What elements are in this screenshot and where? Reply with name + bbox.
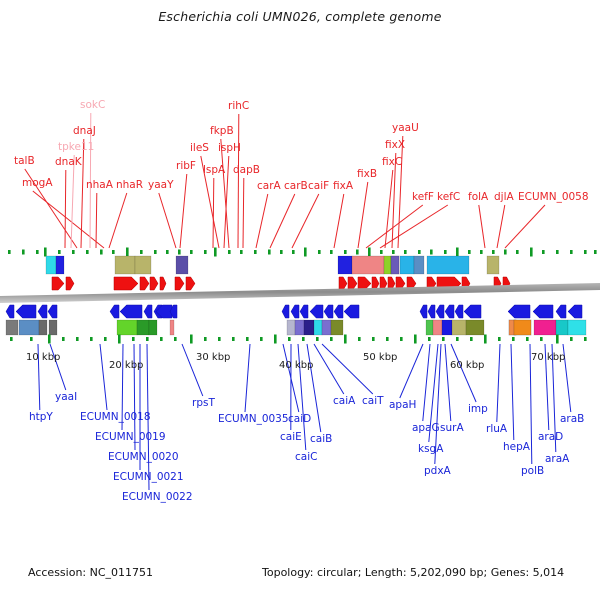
bottom-gene-label[interactable]: rpsT [192,398,215,409]
rna-tick [392,250,395,254]
gene-arrow-reverse[interactable] [324,305,333,318]
domain-block-forward[interactable] [115,256,135,274]
gene-arrow-reverse[interactable] [310,305,323,318]
rna-tick [76,337,79,341]
rna-tick [218,337,221,341]
top-leader-line [71,155,74,248]
rna-tick [10,337,13,341]
rna-tick [178,250,181,255]
top-leader-line [270,194,295,248]
gene-arrow-forward[interactable] [160,277,166,290]
scale-tick-label: 40 kbp [279,360,313,371]
domain-block-forward[interactable] [352,256,384,274]
bottom-gene-label[interactable]: araB [560,414,584,425]
top-gene-label[interactable]: sokC [80,100,105,111]
rna-tick [594,250,597,254]
rna-tick [174,337,177,341]
top-leader-line [505,205,545,248]
top-gene-label[interactable]: tpke11 [58,142,94,153]
rna-tick [530,248,533,257]
rna-tick [72,250,75,254]
rna-tick [456,337,459,341]
rna-tick [442,337,445,341]
top-leader-line [180,174,187,248]
rna-tick [330,250,333,254]
rna-tick [260,337,263,341]
rna-tick [190,250,193,254]
bottom-leader-line [245,344,250,412]
domain-block-reverse[interactable] [6,320,18,335]
domain-block-reverse[interactable] [452,320,466,335]
rna-tick [246,337,249,341]
gene-arrow-reverse[interactable] [533,305,553,318]
domain-block-forward[interactable] [400,256,414,274]
bottom-leader-line [400,344,423,398]
domain-block-forward[interactable] [384,256,391,274]
domain-block-reverse[interactable] [322,320,331,335]
bottom-gene-label[interactable]: yaaI [55,392,77,403]
rna-tick [380,250,383,254]
bottom-leader-line [511,344,514,440]
top-leader-line [256,194,268,248]
rna-tick [556,335,559,344]
scale-tick-label: 50 kbp [363,352,397,363]
rna-tick [86,250,89,254]
rna-tick [44,248,47,257]
top-gene-label[interactable]: carB [284,181,308,192]
reverse-domain-blocks [6,320,586,335]
domain-block-reverse[interactable] [170,320,174,335]
bottom-gene-label[interactable]: apaH [389,400,416,411]
rna-tick [160,337,163,341]
bottom-gene-label[interactable]: caiT [362,396,384,407]
bottom-gene-label[interactable]: rluA [486,424,507,435]
rna-tick-row-bottom [10,335,587,344]
domain-block-reverse[interactable] [117,320,137,335]
forward-domain-blocks [46,256,499,274]
top-gene-label[interactable]: dnaK [55,157,82,168]
top-gene-label[interactable]: dapB [233,165,260,176]
gene-arrow-reverse[interactable] [282,305,289,318]
domain-block-forward[interactable] [414,256,424,274]
domain-block-forward[interactable] [338,256,352,274]
bottom-gene-label[interactable]: araA [545,454,569,465]
rna-tick [570,250,573,254]
gene-arrow-forward[interactable] [52,277,64,290]
top-gene-label[interactable]: yaaY [148,180,174,191]
rna-tick [330,337,333,341]
rna-tick [228,250,231,254]
bottom-gene-label[interactable]: caiD [288,414,311,425]
genome-axis-line [0,283,600,303]
top-leader-line [159,193,176,248]
gene-arrow-reverse[interactable] [120,305,142,318]
gene-arrow-forward[interactable] [150,277,158,290]
top-gene-label[interactable]: ispH [218,143,241,154]
domain-block-reverse[interactable] [514,320,531,335]
footer-bar: Accession: NC_011751 Topology: circular;… [0,566,600,582]
rna-tick [584,250,587,254]
rna-tick [344,250,347,254]
domain-block-reverse[interactable] [466,320,484,335]
bottom-gene-label[interactable]: ksgA [418,444,443,455]
gene-arrow-reverse[interactable] [508,305,530,318]
rna-tick [140,250,143,254]
gene-arrow-reverse[interactable] [445,305,454,318]
gene-arrow-reverse[interactable] [420,305,427,318]
domain-block-reverse[interactable] [137,320,149,335]
rna-tick [400,337,403,341]
top-leader-line [96,193,97,248]
gene-arrow-reverse[interactable] [556,305,566,318]
bottom-leader-line [423,344,430,421]
rna-tick [470,337,473,341]
top-leader-line [213,178,214,248]
rna-tick [58,250,61,254]
rna-tick [292,250,295,254]
rna-tick [456,248,459,257]
bottom-leader-line [445,344,451,421]
rna-tick [274,335,277,344]
scale-tick-label: 60 kbp [450,360,484,371]
rna-tick [404,250,407,254]
gene-arrow-forward[interactable] [140,277,149,290]
top-gene-label[interactable]: ECUMN_0058 [518,192,589,203]
domain-block-reverse[interactable] [19,320,39,335]
scale-tick-label: 10 kbp [26,352,60,363]
top-gene-label[interactable]: lspA [203,165,225,176]
reverse-gene-arrows[interactable] [6,305,582,318]
domain-block-reverse[interactable] [287,320,295,335]
bottom-gene-label[interactable]: ECUMN_0021 [113,472,184,483]
rna-tick-row-top [8,248,597,257]
rna-tick [240,250,243,254]
top-leader-line [238,114,239,248]
rna-tick [570,337,573,341]
rna-tick [498,337,501,341]
top-gene-label[interactable]: talB [14,156,35,167]
gene-arrow-forward[interactable] [175,277,184,290]
top-gene-label[interactable]: fixC [382,157,402,168]
rna-tick [62,337,65,341]
rna-tick [444,250,447,254]
rna-tick [90,337,93,341]
gene-arrow-reverse[interactable] [6,305,14,318]
bottom-gene-label[interactable]: htpY [29,412,53,423]
top-gene-label[interactable]: caiF [308,181,329,192]
rna-tick [204,250,207,254]
rna-tick [542,250,545,254]
rna-tick [302,337,305,341]
gene-arrow-reverse[interactable] [344,305,359,318]
domain-block-reverse[interactable] [331,320,343,335]
rna-tick [112,250,115,254]
top-leader-line [358,182,368,248]
rna-tick [430,250,433,255]
rna-tick [104,337,107,341]
gene-arrow-reverse[interactable] [436,305,444,318]
top-gene-label[interactable]: kefC [437,192,460,203]
domain-block-forward[interactable] [427,256,469,274]
rna-tick [190,335,193,344]
rna-tick [118,335,121,344]
top-gene-label[interactable]: dnaJ [73,126,96,137]
domain-block-reverse[interactable] [49,320,57,335]
accession-text: Accession: NC_011751 [28,566,153,579]
gene-arrow-reverse[interactable] [110,305,119,318]
domain-block-reverse[interactable] [568,320,586,335]
gene-arrow-forward[interactable] [66,277,74,290]
rna-tick [414,335,417,344]
domain-block-forward[interactable] [176,256,188,274]
top-gene-label[interactable]: nhaA [86,180,113,191]
top-gene-label[interactable]: fixA [333,181,353,192]
rna-tick [540,337,543,341]
top-gene-label[interactable]: carA [257,181,281,192]
bottom-gene-label[interactable]: hepA [503,442,530,453]
bottom-gene-label[interactable]: araD [538,432,563,443]
rna-tick [492,250,495,254]
gene-arrow-forward[interactable] [339,277,347,290]
gene-arrow-reverse[interactable] [48,305,57,318]
rna-tick [100,250,103,255]
rna-tick [468,250,471,254]
rna-tick [428,337,431,341]
bottom-gene-label[interactable]: caiA [333,396,355,407]
rna-tick [48,335,51,344]
rna-tick [318,250,321,254]
rna-tick [386,337,389,341]
bottom-gene-label[interactable]: apaG [412,423,440,434]
top-leader-line [497,205,505,248]
top-gene-label[interactable]: nhaR [116,180,143,191]
bottom-leader-line [100,344,107,410]
bottom-leader-line [497,344,500,422]
rna-tick [166,250,169,254]
rna-tick [8,250,11,254]
genome-browser-view: Escherichia coli UMN026, complete genome… [0,0,600,600]
scale-tick-label: 20 kbp [109,360,143,371]
rna-tick [154,250,157,254]
top-gene-label[interactable]: rihC [228,101,249,112]
gene-arrow-reverse[interactable] [464,305,481,318]
genome-map-canvas[interactable] [0,0,600,600]
rna-tick [132,337,135,341]
rna-tick [418,250,421,254]
rna-tick [504,250,507,255]
rna-tick [516,250,519,254]
rna-tick [556,250,559,254]
rna-tick [22,250,25,255]
rna-tick [480,250,483,254]
domain-block-reverse[interactable] [304,320,314,335]
gene-arrow-reverse[interactable] [38,305,47,318]
top-gene-label[interactable]: fixX [385,140,405,151]
domain-block-reverse[interactable] [442,320,452,335]
domain-block-forward[interactable] [487,256,499,274]
domain-block-reverse[interactable] [426,320,433,335]
rna-tick [358,337,361,341]
domain-block-forward[interactable] [56,256,64,274]
rna-tick [30,337,33,341]
bottom-gene-label[interactable]: polB [521,466,544,477]
top-leader-line [243,178,244,248]
rna-tick [484,335,487,344]
gene-arrow-reverse[interactable] [455,305,463,318]
gene-arrow-reverse[interactable] [16,305,36,318]
top-leader-line [65,170,66,248]
bottom-gene-label[interactable]: caiC [295,452,317,463]
bottom-gene-label[interactable]: ECUMN_0022 [122,492,193,503]
gene-arrow-reverse[interactable] [334,305,343,318]
gene-arrow-forward[interactable] [114,277,138,290]
bottom-leader-line [50,344,66,390]
gene-arrow-forward[interactable] [348,277,357,290]
top-gene-label[interactable]: ileS [190,143,209,154]
top-gene-label[interactable]: ribF [176,161,196,172]
rna-tick [316,337,319,341]
rna-tick [254,250,257,254]
top-leader-line [479,205,485,248]
top-gene-label[interactable]: mogA [22,178,53,189]
domain-block-reverse[interactable] [534,320,556,335]
domain-block-reverse[interactable] [433,320,442,335]
rna-tick [356,250,359,255]
top-leader-line [109,193,127,248]
top-gene-label[interactable]: yaaU [392,123,419,134]
domain-block-reverse[interactable] [556,320,568,335]
bottom-leader-line [314,344,344,394]
rna-tick [368,248,371,257]
top-gene-label[interactable]: djlA [494,192,514,203]
gene-arrow-reverse[interactable] [300,305,308,318]
rna-tick [126,248,129,257]
rna-tick [146,337,149,341]
bottom-gene-label[interactable]: caiE [280,432,302,443]
rna-tick [214,248,217,257]
rna-tick [232,337,235,341]
bottom-gene-label[interactable]: pdxA [424,466,451,477]
bottom-gene-label[interactable]: ECUMN_0020 [108,452,179,463]
gene-arrow-reverse[interactable] [144,305,152,318]
gene-arrow-reverse[interactable] [568,305,582,318]
rna-tick [372,337,375,341]
top-leader-line [33,191,104,248]
bottom-gene-label[interactable]: surA [440,423,464,434]
rna-tick [584,337,587,341]
bottom-gene-label[interactable]: ECUMN_0018 [80,412,151,423]
bottom-leader-line [451,344,476,402]
domain-block-forward[interactable] [391,256,399,274]
rna-tick [204,337,207,341]
domain-block-reverse[interactable] [39,320,47,335]
domain-block-forward[interactable] [135,256,151,274]
domain-block-reverse[interactable] [314,320,322,335]
domain-block-forward[interactable] [46,256,56,274]
top-gene-label[interactable]: kefF [412,192,434,203]
bottom-gene-label[interactable]: caiB [310,434,332,445]
scale-tick-label: 70 kbp [531,352,565,363]
top-gene-label[interactable]: fkpB [210,126,234,137]
top-leader-line [292,194,319,248]
rna-tick [344,335,347,344]
gene-arrow-reverse[interactable] [291,305,299,318]
bottom-gene-label[interactable]: ECUMN_0019 [95,432,166,443]
rna-tick [526,337,529,341]
top-gene-label[interactable]: fixB [357,169,377,180]
top-gene-label[interactable]: folA [468,192,488,203]
top-leader-line [334,194,344,248]
domain-block-reverse[interactable] [295,320,304,335]
rna-tick [280,250,283,254]
top-leader-line [398,136,403,248]
top-leader-line [385,170,393,248]
rna-tick [512,337,515,341]
bottom-gene-label[interactable]: imp [468,404,488,415]
topology-text: Topology: circular; Length: 5,202,090 bp… [262,566,564,579]
domain-block-reverse[interactable] [149,320,157,335]
rna-tick [36,250,39,254]
rna-tick [304,248,307,257]
gene-arrow-forward[interactable] [186,277,195,290]
rna-tick [288,337,291,341]
gene-arrow-reverse[interactable] [428,305,435,318]
scale-tick-label: 30 kbp [196,352,230,363]
rna-tick [268,250,271,255]
bottom-gene-label[interactable]: ECUMN_0035 [218,414,289,425]
